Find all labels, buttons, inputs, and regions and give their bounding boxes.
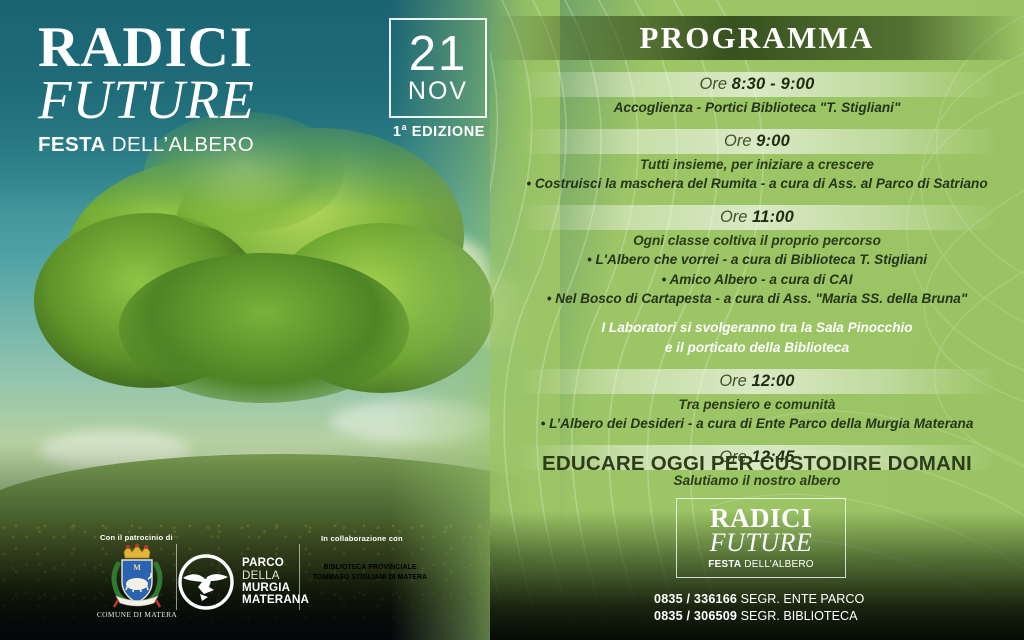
program-item-line: • Nel Bosco di Cartapesta - a cura di As… xyxy=(490,289,1024,309)
program-time-value: 9:00 xyxy=(756,132,790,150)
tagline: EDUCARE OGGI PER CUSTODIRE DOMANI xyxy=(490,452,1024,476)
edition-text: EDIZIONE xyxy=(407,124,485,140)
collaboration-label: In collaborazione con xyxy=(321,534,403,543)
logo-divider xyxy=(299,544,300,610)
program-item-line: Accoglienza - Portici Biblioteca "T. Sti… xyxy=(490,98,1024,118)
program-item: Ore 9:00Tutti insieme, per iniziare a cr… xyxy=(490,129,1024,194)
program-item-spacer xyxy=(490,118,1024,129)
footer-logo-subtitle-rest: DELL’ALBERO xyxy=(741,559,813,570)
program-time-band: Ore 8:30 - 9:00 xyxy=(490,72,1024,97)
footer-logo-subtitle: FESTA DELL’ALBERO xyxy=(708,559,813,570)
brand-title-radici: RADICI xyxy=(38,22,255,74)
program-item-subtitle: Ogni classe coltiva il proprio percorso xyxy=(490,231,1024,250)
program-item-line: • Costruisci la maschera del Rumita - a … xyxy=(490,174,1024,194)
date-month: NOV xyxy=(408,79,468,104)
biblioteca-line-2: TOMMASO STIGLIANI DI MATERA xyxy=(310,573,430,583)
contact-row: 0835 / 336166 SEGR. ENTE PARCO xyxy=(654,591,994,608)
parco-murgia-logo: PARCO DELLA MURGIA MATERANA xyxy=(178,554,309,610)
contact-number[interactable]: 0835 / 336166 xyxy=(654,592,737,606)
brand-subtitle-rest: DELL’ALBERO xyxy=(106,133,254,156)
program-time: Ore 9:00 xyxy=(490,129,1024,154)
program-item: Ore 12:00Tra pensiero e comunità• L’Albe… xyxy=(490,369,1024,434)
contact-department: SEGR. ENTE PARCO xyxy=(737,592,864,606)
program-item-note: e il porticato della Biblioteca xyxy=(490,338,1024,358)
program-item-line: • L'Albero che vorrei - a cura di Biblio… xyxy=(490,250,1024,270)
program-time-band: Ore 9:00 xyxy=(490,129,1024,154)
biblioteca-line-1: BIBLIOTECA PROVINCIALE xyxy=(310,563,430,573)
program-time-value: 11:00 xyxy=(752,208,794,226)
program-item-subtitle: Tra pensiero e comunità xyxy=(490,395,1024,414)
program-items-list: Ore 8:30 - 9:00Accoglienza - Portici Bib… xyxy=(490,72,1024,490)
date-badge: 21 NOV xyxy=(389,18,487,118)
partner-logos-bar: Con il patrocinio di M COMUNE DI MATERA xyxy=(0,522,560,640)
program-time-band: Ore 11:00 xyxy=(490,205,1024,230)
program-item: Ore 8:30 - 9:00Accoglienza - Portici Bib… xyxy=(490,72,1024,118)
program-item: Ore 11:00Ogni classe coltiva il proprio … xyxy=(490,205,1024,358)
contact-row: 0835 / 306509 SEGR. BIBLIOTECA xyxy=(654,608,994,625)
program-panel: PROGRAMMA Ore 8:30 - 9:00Accoglienza - P… xyxy=(490,0,1024,640)
program-time-value: 12:00 xyxy=(751,372,794,390)
program-title: PROGRAMMA xyxy=(490,20,1024,56)
comune-di-matera-crest-icon: M xyxy=(104,542,170,612)
contact-phone-list: 0835 / 336166 SEGR. ENTE PARCO0835 / 306… xyxy=(654,591,994,624)
program-time-label: Ore xyxy=(720,208,752,226)
brand-title-future: FUTURE xyxy=(38,72,255,128)
edition-number: 1 xyxy=(393,124,402,140)
brand-subtitle-bold: FESTA xyxy=(38,133,106,156)
program-time: Ore 8:30 - 9:00 xyxy=(490,72,1024,97)
logo-divider xyxy=(176,544,177,610)
biblioteca-provinciale-label: BIBLIOTECA PROVINCIALE TOMMASO STIGLIANI… xyxy=(310,563,430,584)
footer-logo-future: FUTURE xyxy=(710,530,813,556)
svg-text:M: M xyxy=(133,563,141,572)
program-time-label: Ore xyxy=(699,75,731,93)
patronage-label: Con il patrocinio di xyxy=(100,533,173,542)
contact-department: SEGR. BIBLIOTECA xyxy=(737,609,857,623)
edition-label: 1a EDIZIONE xyxy=(383,122,495,140)
comune-caption: COMUNE DI MATERA xyxy=(88,610,186,619)
program-item-line xyxy=(490,309,1024,318)
program-time-label: Ore xyxy=(719,372,751,390)
tree-canopy xyxy=(119,253,409,403)
program-time: Ore 12:00 xyxy=(490,369,1024,394)
footer-logo-subtitle-bold: FESTA xyxy=(708,559,741,570)
program-item-spacer xyxy=(490,434,1024,445)
program-content: PROGRAMMA Ore 8:30 - 9:00Accoglienza - P… xyxy=(490,0,1024,640)
contact-number[interactable]: 0835 / 306509 xyxy=(654,609,737,623)
poster-root: RADICI FUTURE FESTA DELL’ALBERO 21 NOV 1… xyxy=(0,0,1024,640)
brand-lockup: RADICI FUTURE FESTA DELL’ALBERO xyxy=(38,22,255,157)
program-time: Ore 11:00 xyxy=(490,205,1024,230)
program-item-line: • L’Albero dei Desideri - a cura di Ente… xyxy=(490,414,1024,434)
program-time-value: 8:30 - 9:00 xyxy=(732,75,815,93)
program-item-note: I Laboratori si svolgeranno tra la Sala … xyxy=(490,318,1024,338)
program-item-line: • Amico Albero - a cura di CAI xyxy=(490,270,1024,290)
brand-subtitle: FESTA DELL’ALBERO xyxy=(38,133,255,157)
program-item-spacer xyxy=(490,358,1024,369)
program-time-label: Ore xyxy=(724,132,756,150)
program-time-band: Ore 12:00 xyxy=(490,369,1024,394)
date-day: 21 xyxy=(409,32,468,77)
footer-brand-logo: RADICI FUTURE FESTA DELL’ALBERO xyxy=(676,498,846,578)
program-item-subtitle: Tutti insieme, per iniziare a crescere xyxy=(490,155,1024,174)
falcon-bird-icon xyxy=(178,554,234,610)
program-item-spacer xyxy=(490,194,1024,205)
